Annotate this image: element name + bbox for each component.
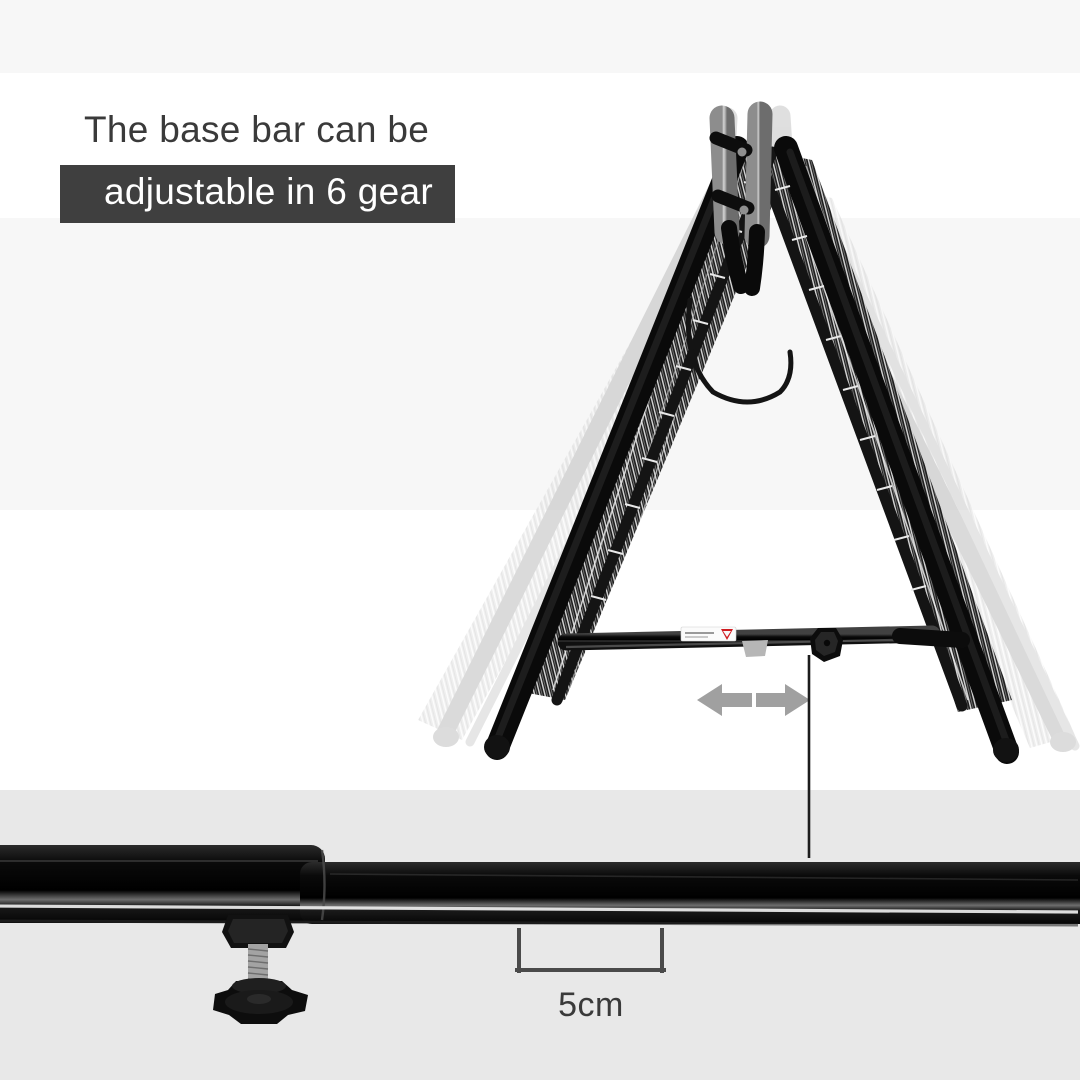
dimension-bracket bbox=[517, 930, 664, 971]
annotation-overlay bbox=[0, 0, 1080, 1080]
arrow-left-icon bbox=[697, 684, 752, 716]
arrow-right-icon bbox=[756, 684, 810, 716]
dimension-label-5cm: 5cm bbox=[518, 986, 664, 1025]
bidirectional-slide-arrows bbox=[697, 684, 810, 716]
infographic-canvas: The base bar can be adjustable in 6 gear bbox=[0, 0, 1080, 1080]
